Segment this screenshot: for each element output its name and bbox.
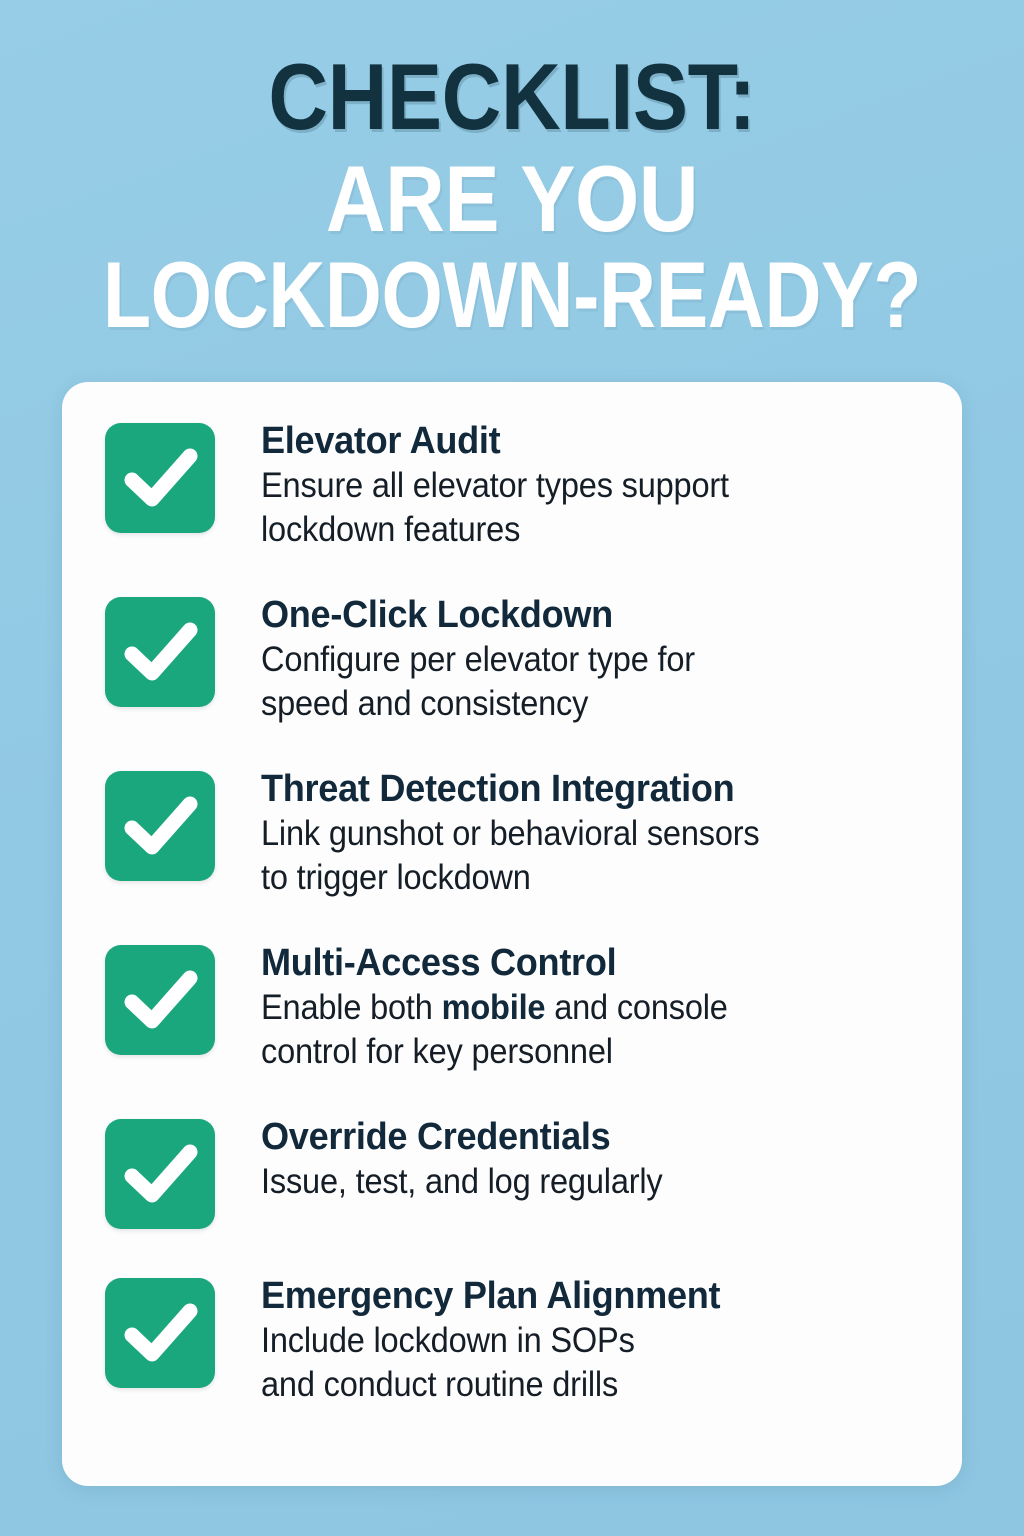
checkbox-checked[interactable] — [105, 1278, 215, 1388]
title-line-are-you: ARE YOU — [61, 154, 962, 244]
checkbox-checked[interactable] — [105, 423, 215, 533]
checklist-item-description: Ensure all elevator types supportlockdow… — [261, 464, 878, 551]
title-line-checklist: CHECKLIST: — [61, 52, 962, 142]
checklist-item-text: Threat Detection IntegrationLink gunshot… — [215, 769, 924, 899]
checklist-item-title: Multi-Access Control — [261, 943, 891, 983]
checklist-item-title: One-Click Lockdown — [261, 595, 891, 635]
checklist-item-title: Elevator Audit — [261, 421, 891, 461]
checklist-item[interactable]: Emergency Plan AlignmentInclude lockdown… — [62, 1276, 962, 1406]
checklist-item-text: Elevator AuditEnsure all elevator types … — [215, 421, 924, 551]
checklist-item-description: Link gunshot or behavioral sensorsto tri… — [261, 812, 878, 899]
checklist-item-title: Emergency Plan Alignment — [261, 1276, 891, 1316]
checkbox-checked[interactable] — [105, 945, 215, 1055]
checklist-item-description: Enable both mobile and consolecontrol fo… — [261, 986, 878, 1073]
checklist-item-text: Emergency Plan AlignmentInclude lockdown… — [215, 1276, 924, 1406]
checklist-item-title: Threat Detection Integration — [261, 769, 891, 809]
checklist-item-title: Override Credentials — [261, 1117, 891, 1157]
checklist-card: Elevator AuditEnsure all elevator types … — [62, 382, 962, 1486]
checklist-item[interactable]: Override CredentialsIssue, test, and log… — [62, 1117, 962, 1229]
poster-title-block: CHECKLIST: ARE YOU LOCKDOWN-READY? — [0, 52, 1024, 341]
checklist-item-description: Issue, test, and log regularly — [261, 1160, 878, 1203]
checklist-item-text: Override CredentialsIssue, test, and log… — [215, 1117, 924, 1204]
title-line-lockdown-ready: LOCKDOWN-READY? — [82, 250, 942, 340]
checklist-item-text: Multi-Access ControlEnable both mobile a… — [215, 943, 924, 1073]
infographic-poster: CHECKLIST: ARE YOU LOCKDOWN-READY? Eleva… — [0, 0, 1024, 1536]
checklist-item-description: Include lockdown in SOPsand conduct rout… — [261, 1319, 878, 1406]
checklist-item[interactable]: Threat Detection IntegrationLink gunshot… — [62, 769, 962, 899]
checklist-item[interactable]: Elevator AuditEnsure all elevator types … — [62, 421, 962, 551]
checklist-item-description: Configure per elevator type forspeed and… — [261, 638, 878, 725]
checkbox-checked[interactable] — [105, 597, 215, 707]
checkbox-checked[interactable] — [105, 1119, 215, 1229]
checklist-item[interactable]: One-Click LockdownConfigure per elevator… — [62, 595, 962, 725]
checklist-item-text: One-Click LockdownConfigure per elevator… — [215, 595, 924, 725]
checklist: Elevator AuditEnsure all elevator types … — [62, 421, 962, 1406]
checklist-item[interactable]: Multi-Access ControlEnable both mobile a… — [62, 943, 962, 1073]
checkbox-checked[interactable] — [105, 771, 215, 881]
